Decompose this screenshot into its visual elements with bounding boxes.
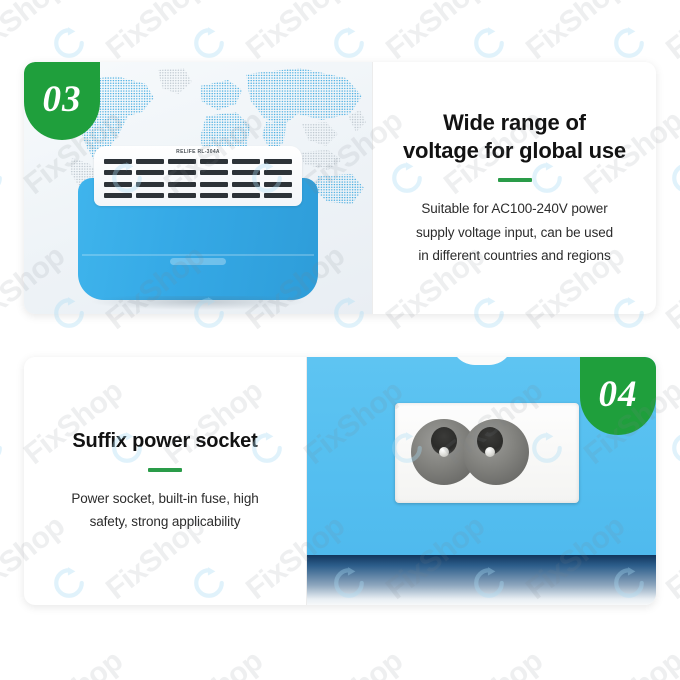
watermark-text: FixShop [438,644,549,680]
step-number-badge-04: 04 [580,357,656,435]
watermark-text: FixShop [578,644,680,680]
step-number-badge-03: 03 [24,62,100,140]
watermark-text: FixShop [240,0,351,67]
card-04-body-line-1: Power socket, built-in fuse, high [71,487,258,510]
refresh-circle-icon [52,26,86,60]
refresh-circle-icon [332,26,366,60]
usb-port [104,193,132,198]
power-socket-plate [395,403,579,503]
usb-port [232,193,260,198]
card-04-text-panel: Suffix power socket Power socket, built-… [24,357,306,605]
watermark-text: FixShop [520,0,631,67]
card-04-body-line-2: safety, strong applicability [71,510,258,533]
step-number-04-label: 04 [599,376,638,417]
usb-port [104,182,132,187]
usb-port [264,170,292,175]
usb-port [168,182,196,187]
card-04-heading: Suffix power socket [72,429,257,454]
charger-indicator [170,258,226,265]
charger-shadow [92,296,304,310]
feature-card-04: Suffix power socket Power socket, built-… [24,357,656,605]
usb-port [232,182,260,187]
socket-pin-right [485,447,495,457]
watermark-text: FixShop [660,239,680,336]
watermark-text: FixShop [660,0,680,67]
usb-port [200,193,228,198]
card-03-heading: Wide range of voltage for global use [403,109,626,164]
card-03-body-line-1: Suitable for AC100-240V power [416,197,613,220]
surface-shadow-gradient [307,555,656,605]
usb-port [232,170,260,175]
charger-seam [82,254,314,256]
usb-charger-device: RELIFE RL-304A [78,146,318,310]
usb-port-grid [104,157,292,200]
usb-port [104,159,132,164]
usb-port [136,170,164,175]
refresh-circle-icon [192,26,226,60]
usb-port [264,159,292,164]
card-03-body-line-3: in different countries and regions [416,244,613,267]
usb-port [200,159,228,164]
usb-port [232,159,260,164]
card-04-body: Power socket, built-in fuse, high safety… [71,487,258,533]
card-03-heading-line-2: voltage for global use [403,137,626,165]
usb-port [136,193,164,198]
refresh-circle-icon [612,26,646,60]
usb-port [264,182,292,187]
refresh-circle-icon [670,161,680,195]
card-03-accent-rule [498,178,532,182]
card-03-body: Suitable for AC100-240V power supply vol… [416,197,613,267]
feature-card-03: RELIFE RL-304A [24,62,656,314]
watermark-text: FixShop [380,0,491,67]
watermark-text: FixShop [298,644,409,680]
card-03-text-panel: Wide range of voltage for global use Sui… [373,62,656,314]
usb-port [136,182,164,187]
refresh-circle-icon [0,161,4,195]
usb-port [200,182,228,187]
charger-port-panel: RELIFE RL-304A [94,146,302,206]
usb-port [200,170,228,175]
card-04-accent-rule [148,468,182,472]
card-04-heading-line-1: Suffix power socket [72,429,257,454]
socket-pin-left [439,447,449,457]
refresh-circle-icon [472,26,506,60]
step-number-03-label: 03 [43,81,82,122]
card-03-heading-line-1: Wide range of [403,109,626,137]
refresh-circle-icon [0,431,4,465]
usb-port [136,159,164,164]
watermark-text: FixShop [158,644,269,680]
usb-port [264,193,292,198]
charger-brand-label: RELIFE RL-304A [94,149,302,155]
usb-port [168,170,196,175]
watermark-text: FixShop [0,0,71,67]
watermark-text: FixShop [660,509,680,606]
usb-port [168,193,196,198]
watermark-text: FixShop [100,0,211,67]
usb-port [168,159,196,164]
usb-port [104,170,132,175]
housing-top-notch [451,357,513,365]
watermark-text: FixShop [18,644,129,680]
card-03-body-line-2: supply voltage input, can be used [416,221,613,244]
refresh-circle-icon [670,431,680,465]
